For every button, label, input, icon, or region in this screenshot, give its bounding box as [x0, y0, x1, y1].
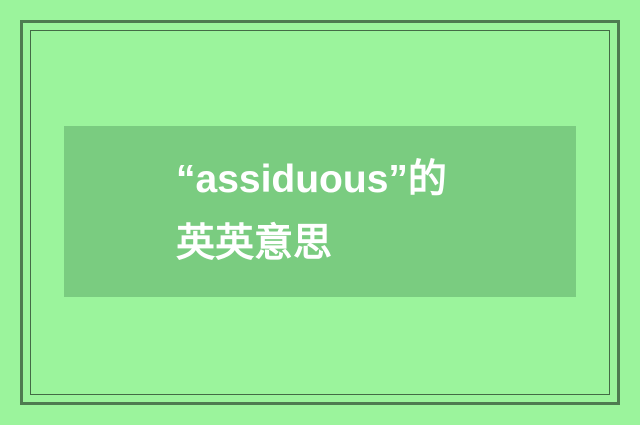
page-root: “assiduous”的英英意思: [0, 0, 640, 425]
page-title: “assiduous”的英英意思: [176, 148, 464, 276]
title-banner: “assiduous”的英英意思: [64, 126, 576, 297]
